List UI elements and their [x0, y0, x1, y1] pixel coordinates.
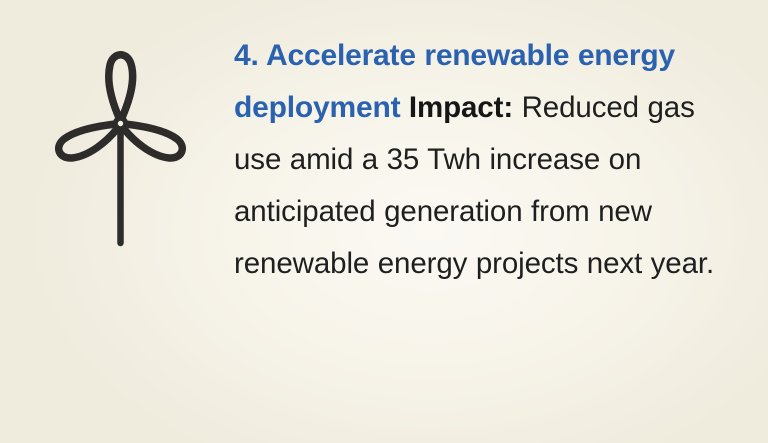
content-block: 4. Accelerate renewable energy deploymen…: [22, 30, 734, 302]
impact-label: Impact:: [409, 91, 513, 124]
slide-canvas: 4. Accelerate renewable energy deploymen…: [0, 0, 768, 443]
icon-gutter-spacer: [22, 30, 234, 302]
